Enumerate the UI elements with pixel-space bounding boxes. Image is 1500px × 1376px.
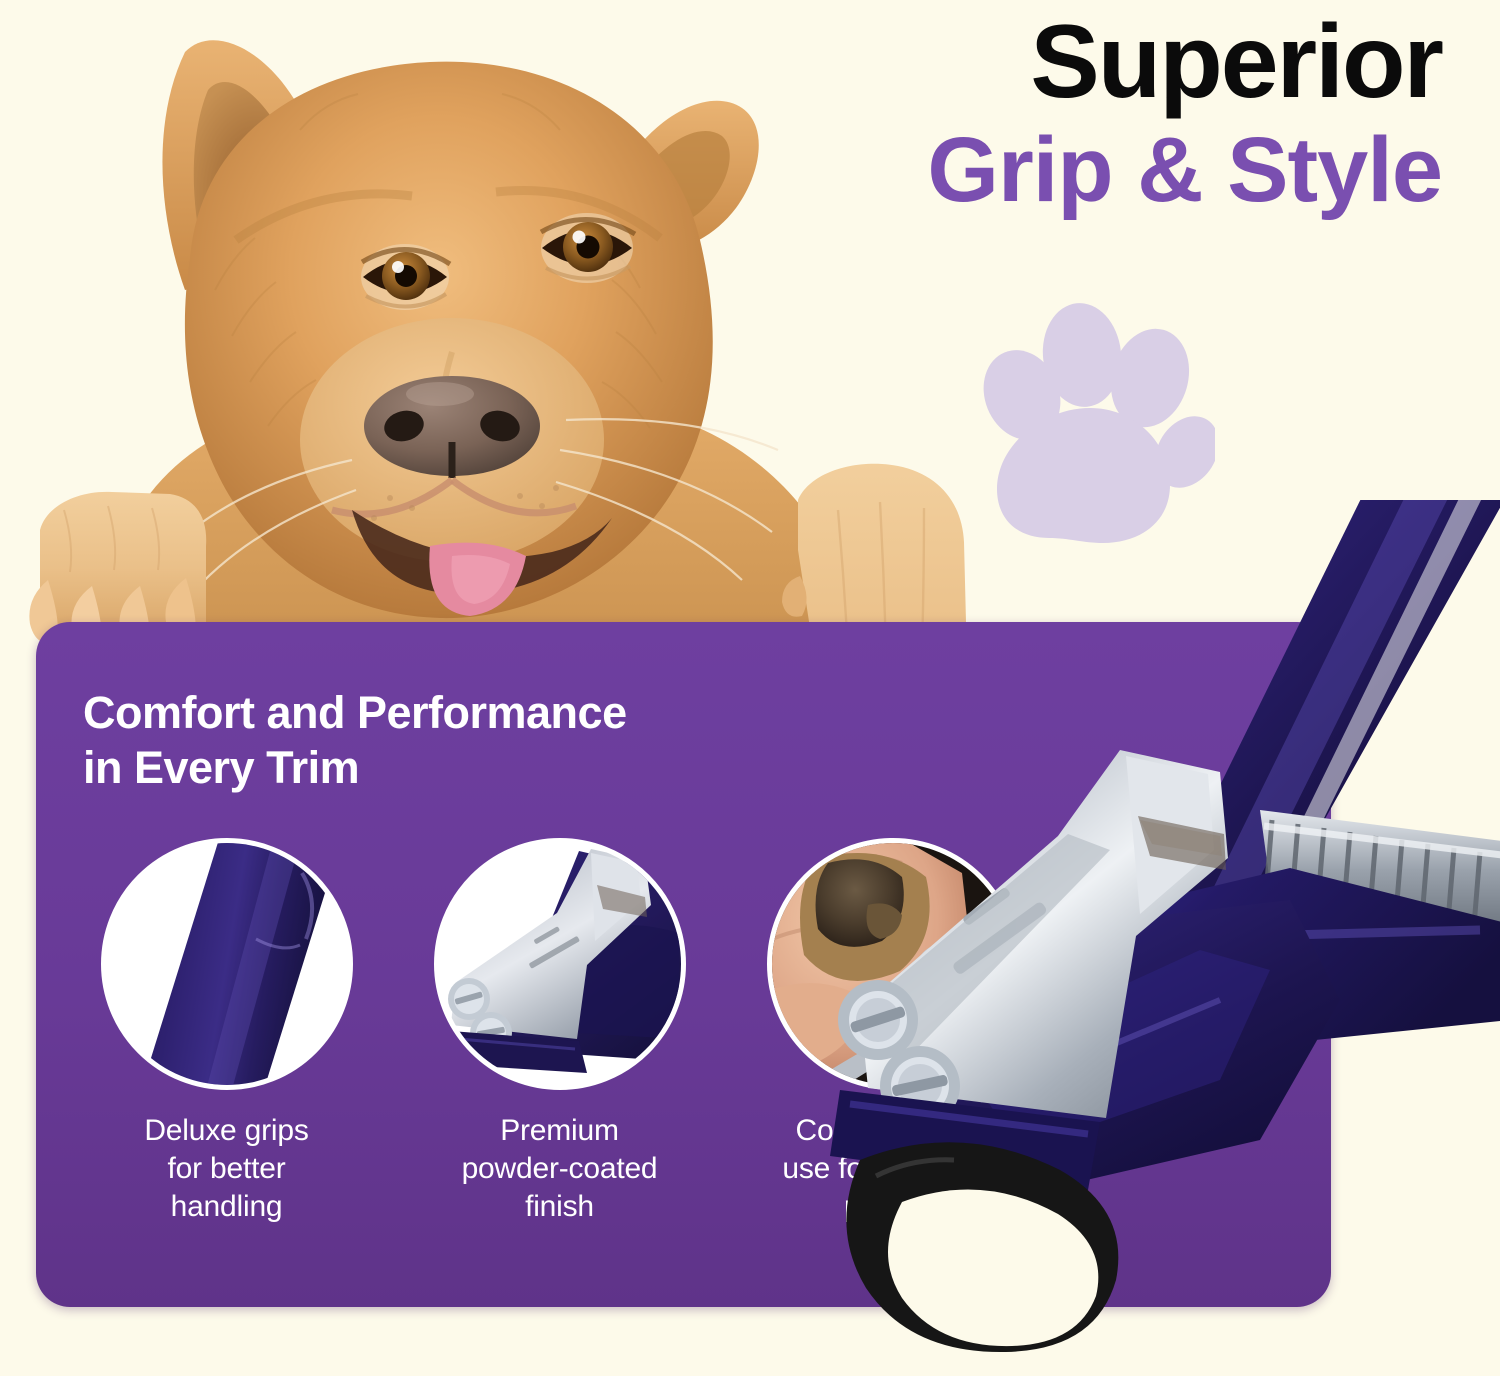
feature-caption-line2: powder-coated bbox=[415, 1150, 705, 1188]
headline-line1: Superior bbox=[927, 8, 1442, 117]
feature-caption-line1: Premium bbox=[415, 1112, 705, 1150]
card-title-line1: Comfort and Performance bbox=[83, 686, 843, 741]
card-title-line2: in Every Trim bbox=[83, 741, 843, 796]
feature-item: Premium powder-coated finish bbox=[393, 838, 726, 1225]
feature-caption-line2: for better bbox=[82, 1150, 372, 1188]
feature-caption-line1: Deluxe grips bbox=[82, 1112, 372, 1150]
feature-caption: Deluxe grips for better handling bbox=[82, 1112, 372, 1225]
feature-item: Deluxe grips for better handling bbox=[60, 838, 393, 1225]
feature-caption: Premium powder-coated finish bbox=[415, 1112, 705, 1225]
feature-caption-line3: handling bbox=[82, 1188, 372, 1226]
headline: Superior Grip & Style bbox=[927, 8, 1442, 222]
product-feature-graphic: Superior Grip & Style bbox=[0, 0, 1500, 1376]
powder-coated-blade-closeup bbox=[434, 838, 686, 1090]
headline-line2: Grip & Style bbox=[927, 119, 1442, 222]
dog-nail-clipper bbox=[820, 500, 1500, 1376]
card-title: Comfort and Performance in Every Trim bbox=[83, 686, 843, 796]
handle-grip-closeup bbox=[101, 838, 353, 1090]
feature-caption-line3: finish bbox=[415, 1188, 705, 1226]
